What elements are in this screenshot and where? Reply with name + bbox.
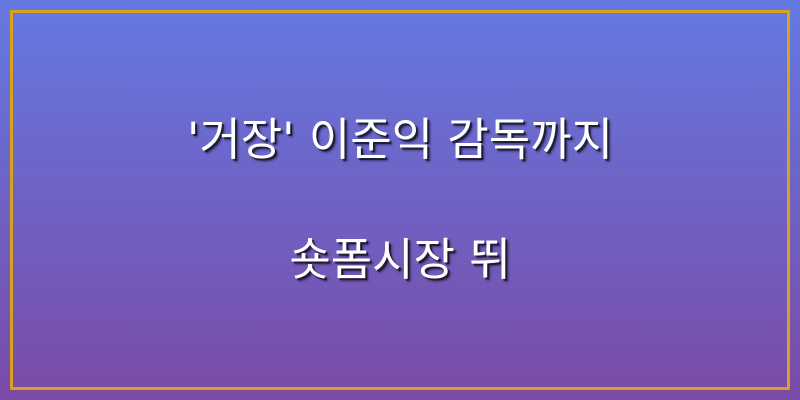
headline-text: '거장' 이준익 감독까지 숏폼시장 뛰	[50, 50, 750, 350]
headline-line-2: 숏폼시장 뛰	[50, 230, 750, 290]
headline-container: '거장' 이준익 감독까지 숏폼시장 뛰	[0, 0, 800, 400]
banner-image: '거장' 이준익 감독까지 숏폼시장 뛰	[0, 0, 800, 400]
headline-line-1: '거장' 이준익 감독까지	[50, 110, 750, 170]
